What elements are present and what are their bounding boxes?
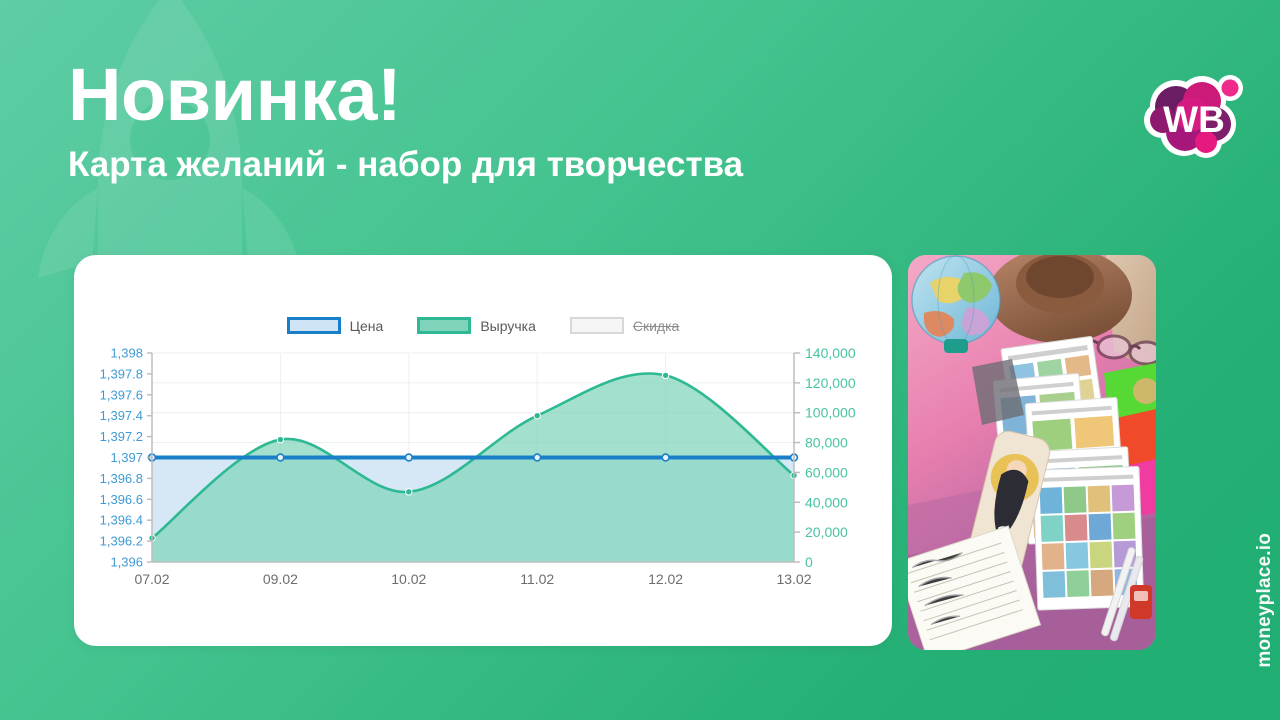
product-photo-image: Карта желаний bbox=[908, 255, 1156, 650]
svg-text:80,000: 80,000 bbox=[805, 435, 848, 451]
banner-root: Новинка! Карта желаний - набор для творч… bbox=[0, 0, 1280, 720]
chart-plot[interactable]: 1,3961,396.21,396.41,396.61,396.81,3971,… bbox=[74, 255, 892, 646]
product-photo[interactable]: Карта желаний bbox=[908, 255, 1156, 650]
svg-text:120,000: 120,000 bbox=[805, 375, 856, 391]
svg-text:1,396: 1,396 bbox=[110, 555, 143, 570]
svg-text:1,396.6: 1,396.6 bbox=[100, 492, 143, 507]
svg-text:40,000: 40,000 bbox=[805, 494, 848, 510]
chart-inner: Цена Выручка Скидка 1,3961,396.21,396. bbox=[74, 255, 892, 646]
chart-left-axis-ticks: 1,3961,396.21,396.41,396.61,396.81,3971,… bbox=[100, 346, 152, 570]
page-subtitle: Карта желаний - набор для творчества bbox=[68, 146, 1068, 185]
svg-text:60,000: 60,000 bbox=[805, 464, 848, 480]
svg-text:1,396.2: 1,396.2 bbox=[100, 534, 143, 549]
chart-right-axis-ticks: 020,00040,00060,00080,000100,000120,0001… bbox=[794, 345, 856, 570]
page-title: Новинка! bbox=[68, 58, 1068, 132]
svg-text:1,397.2: 1,397.2 bbox=[100, 429, 143, 444]
svg-text:1,397.6: 1,397.6 bbox=[100, 387, 143, 402]
svg-text:100,000: 100,000 bbox=[805, 405, 856, 421]
svg-text:12.02: 12.02 bbox=[648, 571, 683, 587]
svg-text:0: 0 bbox=[805, 554, 813, 570]
svg-text:09.02: 09.02 bbox=[263, 571, 298, 587]
svg-text:1,397.8: 1,397.8 bbox=[100, 366, 143, 381]
svg-text:1,398: 1,398 bbox=[110, 346, 143, 361]
svg-text:1,396.8: 1,396.8 bbox=[100, 471, 143, 486]
svg-text:11.02: 11.02 bbox=[520, 571, 554, 587]
chart-areas bbox=[152, 373, 794, 562]
svg-text:13.02: 13.02 bbox=[776, 571, 811, 587]
chart-x-axis-ticks: 07.0209.0210.0211.0212.0213.02 bbox=[134, 571, 811, 587]
brand-watermark: moneyplace.io bbox=[1254, 533, 1276, 668]
wb-logo-icon: WB bbox=[1140, 62, 1248, 170]
svg-text:07.02: 07.02 bbox=[134, 571, 169, 587]
svg-text:20,000: 20,000 bbox=[805, 524, 848, 540]
svg-text:1,396.4: 1,396.4 bbox=[100, 513, 143, 528]
headline-block: Новинка! Карта желаний - набор для творч… bbox=[68, 58, 1068, 185]
svg-text:1,397.4: 1,397.4 bbox=[100, 408, 143, 423]
svg-text:1,397: 1,397 bbox=[110, 450, 143, 465]
svg-text:WB: WB bbox=[1163, 99, 1225, 140]
svg-text:140,000: 140,000 bbox=[805, 345, 856, 361]
chart-card: Цена Выручка Скидка 1,3961,396.21,396. bbox=[74, 255, 892, 646]
svg-text:10.02: 10.02 bbox=[391, 571, 426, 587]
